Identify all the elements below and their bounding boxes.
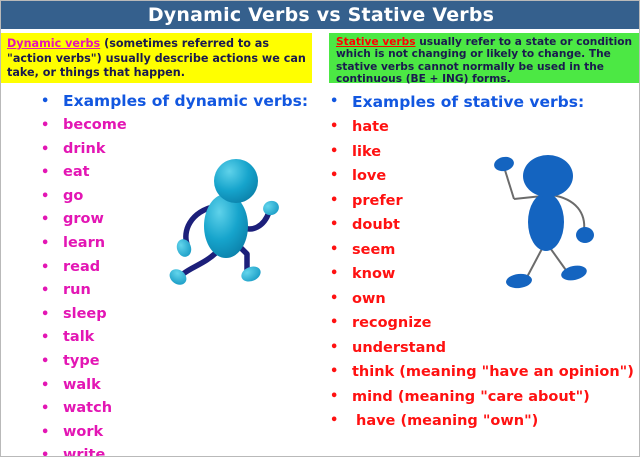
dynamic-verbs-definition-box: Dynamic verbs (sometimes referred to as … <box>1 33 312 83</box>
bullet-icon: • <box>330 409 350 434</box>
bullet-icon: • <box>41 279 61 303</box>
slide-canvas: Dynamic Verbs vs Stative Verbs Dynamic v… <box>0 0 640 457</box>
bullet-icon: • <box>330 238 350 263</box>
bullet-icon: • <box>41 89 61 114</box>
bullet-icon: • <box>330 189 350 214</box>
bullet-icon: • <box>330 213 350 238</box>
bullet-icon: • <box>41 421 61 445</box>
bullet-icon: • <box>41 350 61 374</box>
stative-verbs-definition-box: Stative verbs usually refer to a state o… <box>329 33 640 83</box>
bullet-icon: • <box>41 303 61 327</box>
dynamic-list-heading: • Examples of dynamic verbs: <box>41 89 311 114</box>
bullet-icon: • <box>330 262 350 287</box>
bullet-icon: • <box>330 164 350 189</box>
list-item: • walk <box>41 374 311 398</box>
running-stick-figure-icon <box>161 154 306 299</box>
list-item: • mind (meaning "care about") <box>330 385 630 410</box>
list-item: • talk <box>41 326 311 350</box>
bullet-icon: • <box>41 185 61 209</box>
bullet-icon: • <box>41 444 61 457</box>
stative-verb-label: have (meaning "own") <box>330 409 538 434</box>
bullet-icon: • <box>41 374 61 398</box>
stative-list-heading-label: Examples of stative verbs: <box>330 89 584 115</box>
bullet-icon: • <box>330 360 350 385</box>
stative-verbs-keyword: Stative verbs <box>336 36 416 48</box>
list-item: • watch <box>41 397 311 421</box>
stative-verb-label: mind (meaning "care about") <box>330 385 590 410</box>
list-item: • type <box>41 350 311 374</box>
dynamic-verbs-keyword: Dynamic verbs <box>7 37 100 50</box>
list-item: • become <box>41 114 311 138</box>
dynamic-list-heading-label: Examples of dynamic verbs: <box>41 89 308 114</box>
bullet-icon: • <box>41 256 61 280</box>
bullet-icon: • <box>330 336 350 361</box>
bullet-icon: • <box>330 115 350 140</box>
list-item: • think (meaning "have an opinion") <box>330 360 630 385</box>
bullet-icon: • <box>41 208 61 232</box>
slide-title-bar: Dynamic Verbs vs Stative Verbs <box>1 1 640 29</box>
bullet-icon: • <box>330 89 350 115</box>
list-item: • write <box>41 444 311 457</box>
list-item: • sleep <box>41 303 311 327</box>
page-title: Dynamic Verbs vs Stative Verbs <box>148 4 494 26</box>
bullet-icon: • <box>330 287 350 312</box>
bullet-icon: • <box>41 326 61 350</box>
bullet-icon: • <box>41 397 61 421</box>
list-item: • have (meaning "own") <box>330 409 630 434</box>
list-item: • recognize <box>330 311 630 336</box>
stative-verb-label: think (meaning "have an opinion") <box>330 360 634 385</box>
bullet-icon: • <box>330 385 350 410</box>
bullet-icon: • <box>41 138 61 162</box>
bullet-icon: • <box>330 140 350 165</box>
thinking-stick-figure-icon <box>486 151 616 291</box>
list-item: • work <box>41 421 311 445</box>
list-item: • understand <box>330 336 630 361</box>
bullet-icon: • <box>330 311 350 336</box>
list-item: • hate <box>330 115 630 140</box>
stative-list-heading: • Examples of stative verbs: <box>330 89 630 115</box>
bullet-icon: • <box>41 114 61 138</box>
bullet-icon: • <box>41 232 61 256</box>
bullet-icon: • <box>41 161 61 185</box>
